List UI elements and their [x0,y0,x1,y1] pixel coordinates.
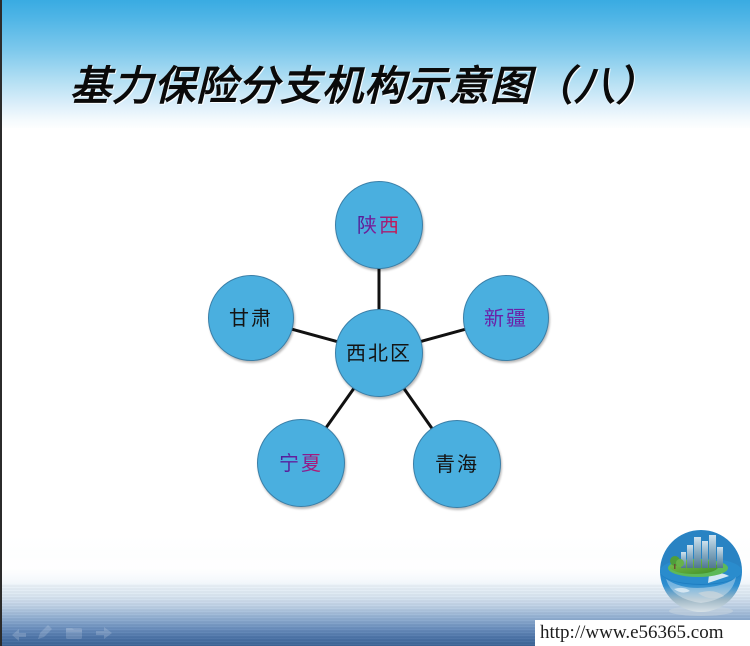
diagram-node-label-gansu: 甘肃 [229,308,273,328]
diagram-node-label-shaanxi: 陕西 [357,215,401,235]
website-url-badge: http://www.e56365.com [535,620,750,646]
website-url-text[interactable]: http://www.e56365.com [535,622,723,644]
diagram-node-label-ningxia: 宁夏 [279,453,323,473]
diagram-node-ningxia[interactable]: 宁夏 [257,419,345,507]
diagram-edge-center-xinjiang [419,329,466,342]
diagram-node-xinjiang[interactable]: 新疆 [463,275,549,361]
diagram-node-center[interactable]: 西北区 [335,309,423,397]
diagram-node-label-qinghai: 青海 [435,454,479,474]
diagram-node-gansu[interactable]: 甘肃 [208,275,294,361]
diagram-edge-center-ningxia [325,387,354,428]
diagram-edge-center-qinghai [403,387,433,429]
slide-canvas: 基力保险分支机构示意图（八） 西北区陕西新疆青海宁夏甘肃 [0,0,750,646]
globe-city-logo-icon [654,527,748,619]
org-chart-diagram: 西北区陕西新疆青海宁夏甘肃 [2,0,750,646]
diagram-node-label-center: 西北区 [346,343,412,363]
diagram-node-shaanxi[interactable]: 陕西 [335,181,423,269]
diagram-node-qinghai[interactable]: 青海 [413,420,501,508]
diagram-edge-center-gansu [291,329,339,342]
diagram-node-label-xinjiang: 新疆 [484,308,528,328]
